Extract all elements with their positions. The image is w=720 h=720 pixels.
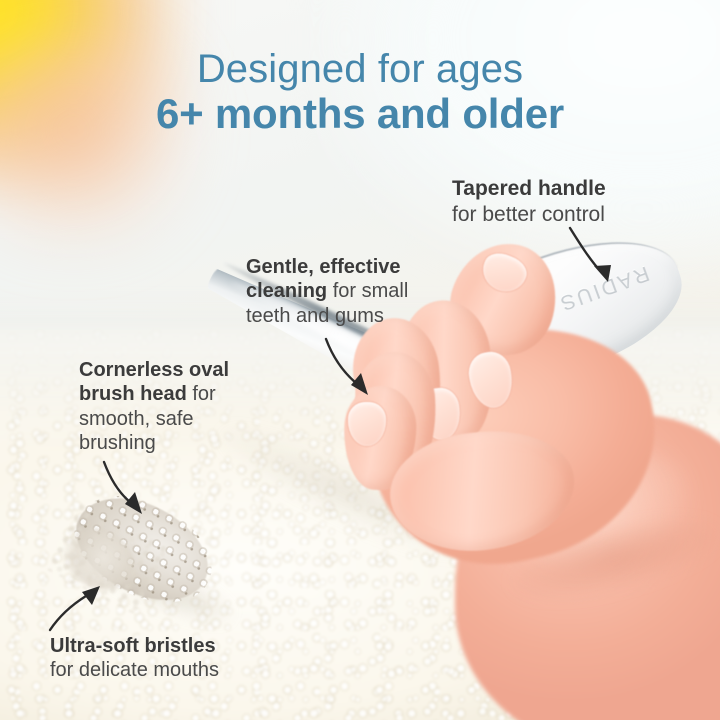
infographic-canvas: RADIUS Designed for ages 6+ months and o… (0, 0, 720, 720)
page-title: Designed for ages 6+ months and older (0, 48, 720, 138)
callout-bristles-bold: Ultra-soft bristles (50, 635, 216, 657)
callout-tapered-bold: Tapered handle (452, 177, 606, 200)
callout-tapered-handle: Tapered handle for better control (452, 176, 606, 227)
callout-tapered-body: for better control (452, 202, 606, 228)
callout-cornerless-head: Cornerless oval brush head for smooth, s… (79, 358, 264, 456)
callout-bristles-body: for delicate mouths (50, 658, 219, 682)
callout-ultra-soft-bristles: Ultra-soft bristles for delicate mouths (50, 634, 219, 683)
callout-gentle-cleaning: Gentle, effective cleaning for small tee… (246, 255, 436, 328)
headline-line-2: 6+ months and older (0, 90, 720, 138)
headline-line-1: Designed for ages (0, 48, 720, 90)
